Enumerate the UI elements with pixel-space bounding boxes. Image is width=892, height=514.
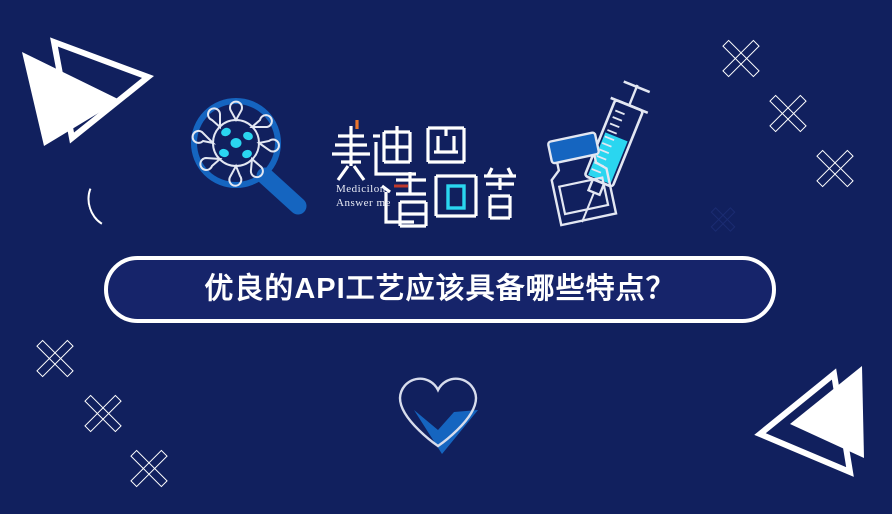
heart-check-icon [382,368,492,465]
cross-x-icon [80,390,126,436]
poster-canvas: Medicilon Answer me [0,0,892,514]
logo-chinese-characters [330,118,520,236]
cross-x-icon [765,90,811,136]
cross-x-icon [126,445,172,491]
question-banner[interactable]: 优良的API工艺应该具备哪些特点？ [104,256,776,323]
double-triangle-left-icon [742,362,892,514]
logo-english-line1: Medicilon [336,182,391,196]
virus-magnifier-icon [180,88,320,228]
syringe-vial-icon [540,78,675,238]
cross-x-icon [812,145,858,191]
cross-x-icon-faint [708,204,738,234]
medicilon-logo: Medicilon Answer me [330,118,520,236]
logo-english-line2: Answer me [336,196,391,210]
logo-cyan-square [448,186,464,208]
cross-x-icon [718,35,764,81]
arc-bracket-icon [81,171,137,233]
question-title: 优良的API工艺应该具备哪些特点？ [204,275,675,304]
cross-x-icon [32,335,78,381]
logo-english-text: Medicilon Answer me [336,182,391,210]
double-triangle-right-icon [12,22,162,167]
